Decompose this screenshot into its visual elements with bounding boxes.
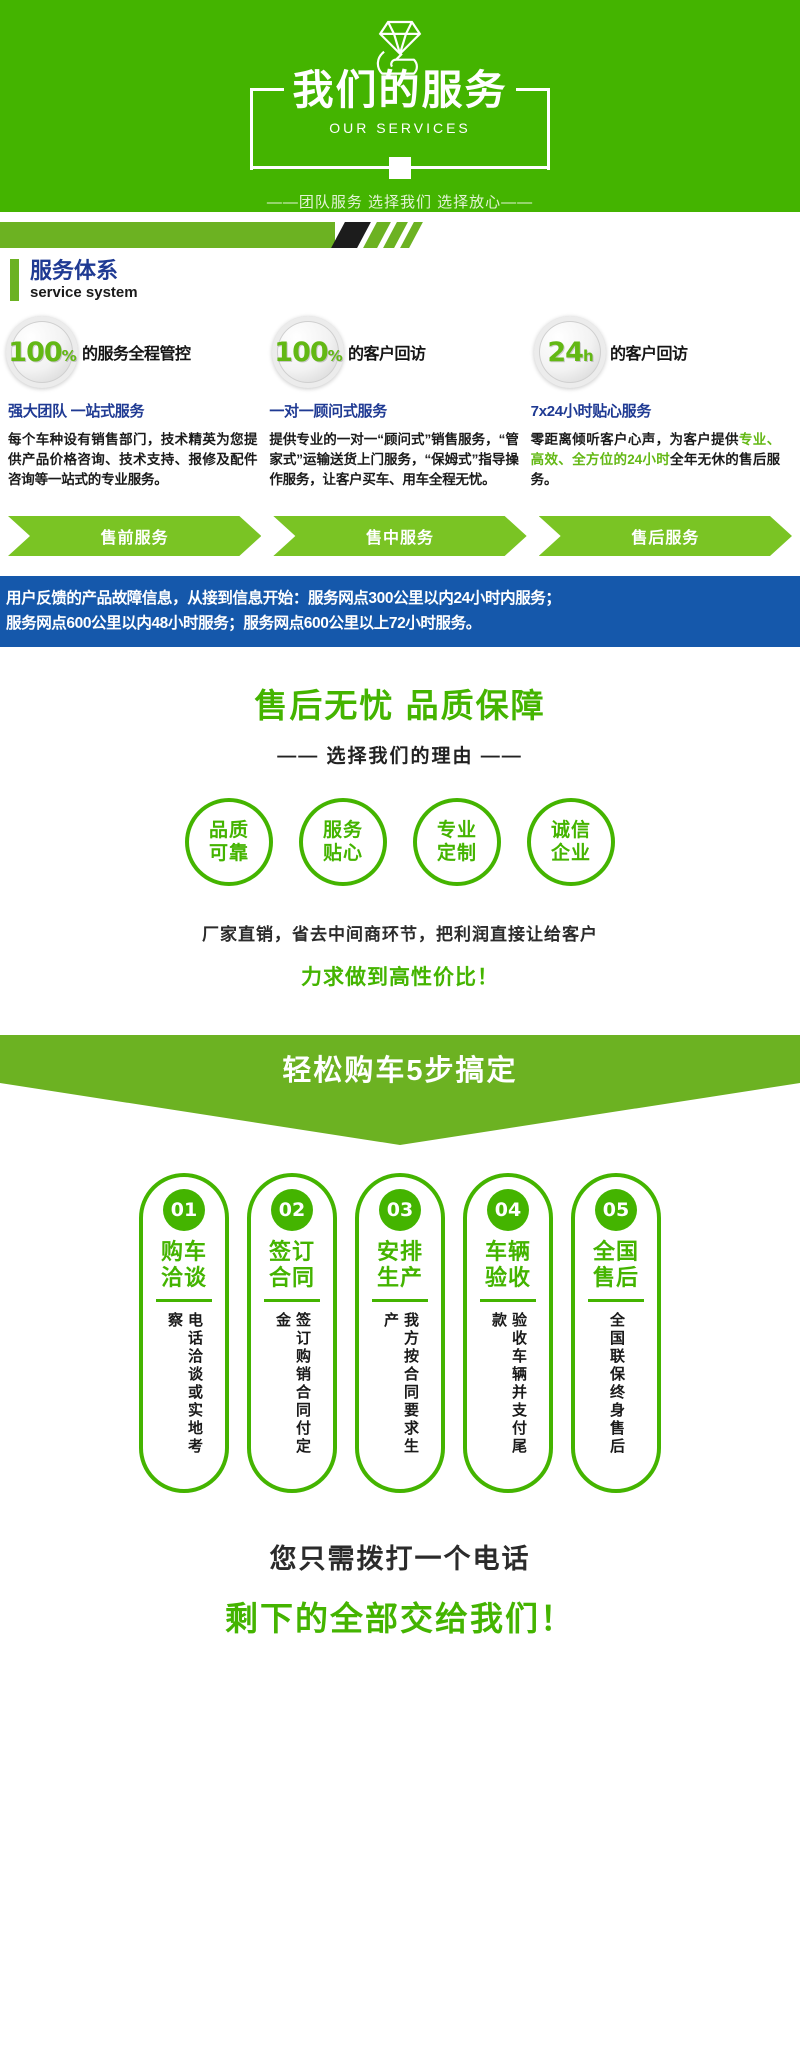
step-description: 全国联保终身售后 [606,1312,626,1462]
page-title: 我们的服务 [250,64,550,116]
badge-label: 的客户回访 [348,340,426,364]
arrow-step-presale[interactable]: 售前服务 [8,516,261,556]
reason-pills-row: 品质 可靠 服务 贴心 专业 定制 诚信 企业 [0,798,800,886]
pill-line-1: 专业 [437,819,477,842]
purchase-steps-row: 01 购车洽谈 电话洽谈或实地考察 02 签订合同 签订购销合同付定金 03 安… [0,1173,800,1493]
pill-line-2: 企业 [551,842,591,865]
after-sales-subtitle: —— 选择我们的理由 —— [0,741,800,768]
column-body: 每个车种设有销售部门，技术精英为您提供产品价格咨询、技术支持、报修及配件咨询等一… [8,430,257,490]
arrow-steps-row: 售前服务 售中服务 售后服务 [0,516,800,556]
service-column: 一对一顾问式服务 提供专业的一对一“顾问式”销售服务，“管家式”运输送货上门服务… [269,400,530,490]
step-description: 签订购销合同付定金 [272,1312,312,1462]
frame-notch [389,157,411,179]
coin-icon: 100% [272,316,344,388]
pill-line-2: 定制 [437,842,477,865]
hero-tagline: ——团队服务 选择我们 选择放心—— [267,191,533,212]
step-title: 全国售后 [593,1239,639,1291]
reason-pill-integrity[interactable]: 诚信 企业 [527,798,615,886]
step-divider [372,1299,428,1302]
pill-line-1: 品质 [209,819,249,842]
chevron-shape: 轻松购车5步搞定 [0,1035,800,1145]
purchase-step[interactable]: 01 购车洽谈 电话洽谈或实地考察 [139,1173,229,1493]
service-system-stripe [0,222,800,248]
column-heading: 强大团队 一站式服务 [8,400,257,421]
step-divider [264,1299,320,1302]
service-system-title-cn: 服务体系 [30,258,138,283]
badges-row: 100% 的服务全程管控 100% 的客户回访 24h 的客户回访 [0,316,800,388]
step-number: 03 [379,1189,421,1231]
pill-line-2: 可靠 [209,842,249,865]
step-description: 电话洽谈或实地考察 [164,1312,204,1462]
promo-line-1: 厂家直销，省去中间商环节，把利润直接让给客户 [0,920,800,945]
step-title: 购车洽谈 [161,1239,207,1291]
policy-line-2: 服务网点600公里以内48小时服务；服务网点600公里以上72小时服务。 [6,611,794,636]
pill-line-1: 服务 [323,819,363,842]
service-system-heading: 服务体系 service system [0,258,800,302]
service-system-title-en: service system [30,283,138,302]
body-highlight: 24小时 [627,452,670,467]
step-description: 我方按合同要求生产 [380,1312,420,1462]
coin-icon: 100% [6,316,78,388]
coin-value: 100% [8,337,75,368]
purchase-step[interactable]: 04 车辆验收 验收车辆并支付尾款 [463,1173,553,1493]
purchase-step[interactable]: 02 签订合同 签订购销合同付定金 [247,1173,337,1493]
step-divider [588,1299,644,1302]
service-columns: 强大团队 一站式服务 每个车种设有销售部门，技术精英为您提供产品价格咨询、技术支… [0,400,800,490]
badge-label: 的客户回访 [610,340,688,364]
column-body: 零距离倾听客户心声，为客户提供专业、高效、全方位的24小时全年无休的售后服务。 [531,430,780,490]
purchase-banner-title: 轻松购车5步搞定 [282,1047,517,1089]
service-column: 7x24小时贴心服务 零距离倾听客户心声，为客户提供专业、高效、全方位的24小时… [531,400,792,490]
reason-pill-service[interactable]: 服务 贴心 [299,798,387,886]
reason-pill-quality[interactable]: 品质 可靠 [185,798,273,886]
step-number: 02 [271,1189,313,1231]
step-number: 04 [487,1189,529,1231]
stripe-bar [0,222,335,248]
column-heading: 一对一顾问式服务 [269,400,518,421]
hero-section: 我们的服务 OUR SERVICES ——团队服务 选择我们 选择放心—— [0,0,800,212]
heading-tick-icon [10,259,19,301]
step-divider [156,1299,212,1302]
cta-line-2: 剩下的全部交给我们！ [0,1592,800,1640]
reason-pill-custom[interactable]: 专业 定制 [413,798,501,886]
hero-title-frame: 我们的服务 OUR SERVICES [250,88,550,169]
badge-item: 100% 的服务全程管控 [6,316,266,388]
step-title: 安排生产 [377,1239,423,1291]
column-body: 提供专业的一对一“顾问式”销售服务，“管家式”运输送货上门服务，“保姆式”指导操… [269,430,518,490]
pill-line-2: 贴心 [323,842,363,865]
step-number: 05 [595,1189,637,1231]
badge-label: 的服务全程管控 [82,340,191,364]
page-subtitle-en: OUR SERVICES [250,120,550,136]
promo-line-2: 力求做到高性价比！ [0,961,800,991]
step-description: 验收车辆并支付尾款 [488,1312,528,1462]
body-text: 零距离倾听客户心声，为客户提供 [531,432,739,447]
purchase-step[interactable]: 05 全国售后 全国联保终身售后 [571,1173,661,1493]
step-title: 签订合同 [269,1239,315,1291]
step-title: 车辆验收 [485,1239,531,1291]
purchase-step[interactable]: 03 安排生产 我方按合同要求生产 [355,1173,445,1493]
column-heading: 7x24小时贴心服务 [531,400,780,421]
step-number: 01 [163,1189,205,1231]
coin-icon: 24h [534,316,606,388]
coin-value: 100% [274,337,341,368]
cta-line-1: 您只需拨打一个电话 [0,1537,800,1576]
policy-line-1: 用户反馈的产品故障信息，从接到信息开始：服务网点300公里以内24小时内服务； [6,586,794,611]
badge-item: 100% 的客户回访 [266,316,532,388]
purchase-banner: 轻松购车5步搞定 [0,1035,800,1145]
arrow-step-aftersale[interactable]: 售后服务 [539,516,792,556]
after-sales-title: 售后无忧 品质保障 [0,679,800,727]
pill-line-1: 诚信 [551,819,591,842]
service-policy-banner: 用户反馈的产品故障信息，从接到信息开始：服务网点300公里以内24小时内服务； … [0,576,800,647]
step-divider [480,1299,536,1302]
badge-item: 24h 的客户回访 [532,316,794,388]
service-column: 强大团队 一站式服务 每个车种设有销售部门，技术精英为您提供产品价格咨询、技术支… [8,400,269,490]
arrow-step-insale[interactable]: 售中服务 [273,516,526,556]
coin-value: 24h [547,337,592,368]
